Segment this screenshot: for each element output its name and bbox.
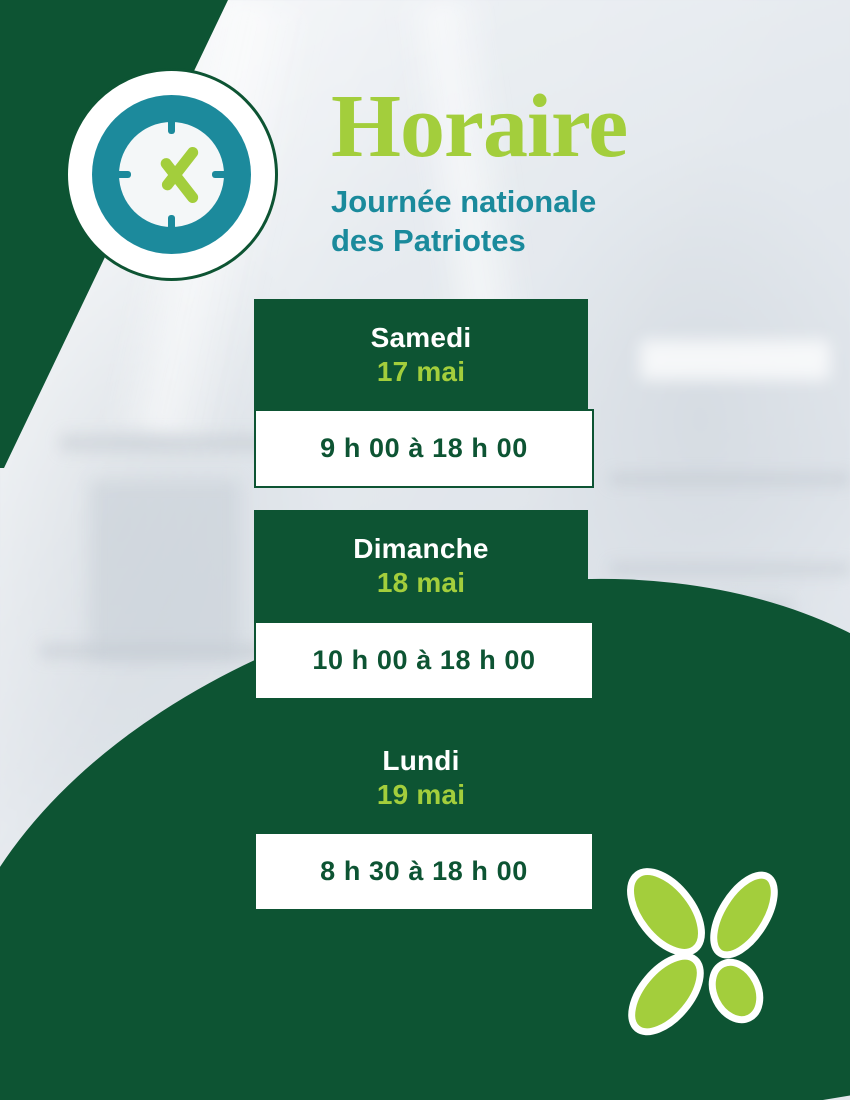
page-title: Horaire — [331, 84, 801, 170]
schedule-card-body: 9 h 00 à 18 h 00 — [254, 409, 594, 488]
logo-petal-top-left — [617, 860, 716, 965]
heading-block: Horaire Journée nationale des Patriotes — [331, 84, 801, 261]
clock-tick-12 — [168, 112, 175, 134]
schedule-card: Samedi 17 mai 9 h 00 à 18 h 00 — [254, 299, 594, 488]
schedule-card-day: Samedi — [254, 321, 588, 355]
page-subtitle: Journée nationale des Patriotes — [331, 182, 801, 261]
schedule-card-date: 18 mai — [254, 566, 588, 600]
background-shelf — [610, 470, 850, 488]
logo-petal-bottom-left — [619, 944, 714, 1044]
schedule-card-hours: 10 h 00 à 18 h 00 — [256, 645, 592, 676]
clock-tick-9 — [109, 171, 131, 178]
clock-tick-6 — [168, 215, 175, 237]
logo-petal-top-right — [701, 865, 786, 965]
background-shape — [90, 480, 240, 660]
schedule-card-hours: 9 h 00 à 18 h 00 — [256, 433, 592, 464]
schedule-card-header: Samedi 17 mai — [254, 299, 588, 409]
schedule-card-list: Samedi 17 mai 9 h 00 à 18 h 00 Dimanche … — [254, 299, 594, 911]
schedule-card: Dimanche 18 mai 10 h 00 à 18 h 00 — [254, 510, 594, 699]
background-shape — [640, 340, 830, 380]
schedule-card-header: Lundi 19 mai — [254, 722, 588, 832]
schedule-card-hours: 8 h 30 à 18 h 00 — [256, 856, 592, 887]
clock-tick-3 — [212, 171, 234, 178]
background-shelf — [610, 560, 850, 578]
schedule-card-date: 17 mai — [254, 355, 588, 389]
schedule-card-header: Dimanche 18 mai — [254, 510, 588, 620]
schedule-card-body: 8 h 30 à 18 h 00 — [254, 832, 594, 911]
logo-petal-bottom-right — [703, 954, 769, 1027]
schedule-card-day: Dimanche — [254, 532, 588, 566]
schedule-poster: Horaire Journée nationale des Patriotes … — [0, 0, 850, 1100]
schedule-card-body: 10 h 00 à 18 h 00 — [254, 621, 594, 700]
schedule-card-day: Lundi — [254, 744, 588, 778]
butterfly-logo-icon — [614, 860, 804, 1050]
clock-icon — [65, 68, 278, 281]
schedule-card-date: 19 mai — [254, 778, 588, 812]
schedule-card: Lundi 19 mai 8 h 30 à 18 h 00 — [254, 722, 594, 911]
